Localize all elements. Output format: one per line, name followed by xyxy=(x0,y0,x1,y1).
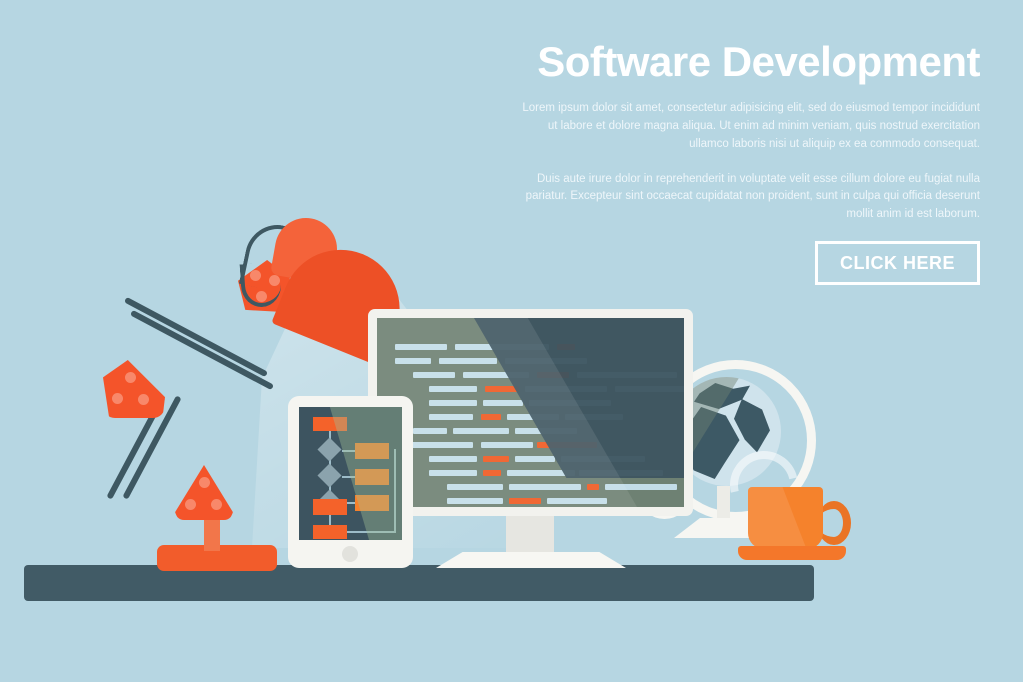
cta-wrapper: CLICK HERE xyxy=(520,241,980,285)
header-paragraph-2: Duis aute irure dolor in reprehenderit i… xyxy=(520,171,980,224)
globe-landmass-east xyxy=(734,399,770,457)
monitor-screen xyxy=(377,318,684,507)
lamp-joint-middle xyxy=(103,360,165,418)
header-block: Software Development Lorem ipsum dolor s… xyxy=(520,40,980,285)
desktop-monitor xyxy=(368,309,693,569)
monitor-neck xyxy=(506,516,554,554)
flowchart-decision xyxy=(317,463,341,487)
flowchart-node xyxy=(313,525,347,539)
tablet-home-button[interactable] xyxy=(342,546,358,562)
header-paragraph-1: Lorem ipsum dolor sit amet, consectetur … xyxy=(520,100,980,153)
cup-saucer xyxy=(738,546,846,560)
page-title: Software Development xyxy=(520,40,980,84)
lamp-arm-upper-b xyxy=(130,310,274,390)
tablet-bezel xyxy=(288,396,413,568)
click-here-button[interactable]: CLICK HERE xyxy=(815,241,980,285)
tablet-device xyxy=(288,396,413,568)
monitor-foot xyxy=(436,552,626,568)
flowchart-decision xyxy=(317,437,341,461)
lamp-joint-lower xyxy=(175,465,233,520)
illustration-stage: Software Development Lorem ipsum dolor s… xyxy=(0,0,1023,682)
tablet-screen xyxy=(299,407,402,540)
monitor-bezel xyxy=(368,309,693,516)
coffee-cup xyxy=(738,487,848,569)
flowchart-node xyxy=(313,499,347,515)
